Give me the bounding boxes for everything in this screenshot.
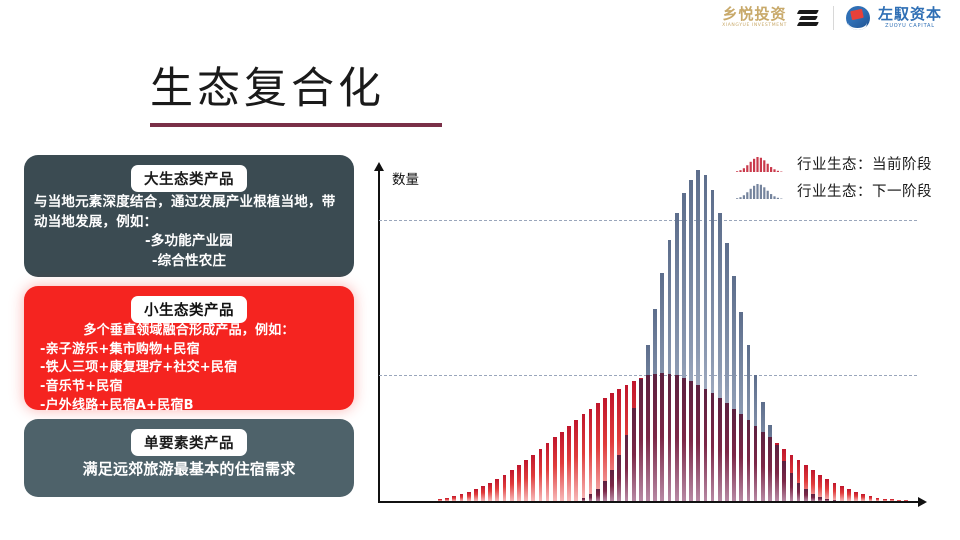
- logo-bar: 乡悦投资 XIANGYUE INVESTMENT 左馭资本 ZUOYU CAPI…: [722, 6, 942, 30]
- chart-bar-overlap: [718, 398, 722, 501]
- logo-divider: [833, 6, 834, 30]
- chart-bar-overlap: [682, 378, 686, 501]
- chart-bar-overlap: [818, 497, 822, 501]
- chart-bar-current-stage: [495, 479, 499, 502]
- logo-zuoyu-cn: 左馭资本: [878, 7, 942, 22]
- legend-item-0[interactable]: 行业生态：当前阶段: [735, 150, 932, 177]
- chart-bar-overlap: [747, 420, 751, 501]
- chart-bar-current-stage: [546, 443, 550, 501]
- card-small-ecology-item-1: -铁人三项+康复理疗+社交+民宿: [34, 359, 344, 378]
- chart-bar-current-stage: [445, 498, 449, 501]
- chart-bar-overlap: [589, 494, 593, 501]
- chart-bar-overlap: [825, 499, 829, 501]
- logo-zuoyu-en: ZUOYU CAPITAL: [885, 24, 935, 29]
- card-small-ecology-item-0: -亲子游乐+集市购物+民宿: [34, 341, 344, 360]
- chart-bar-current-stage: [488, 483, 492, 501]
- chart-bar-overlap: [797, 483, 801, 501]
- chart-bar-overlap: [582, 498, 586, 501]
- card-small-ecology-chip: 小生态类产品: [131, 296, 247, 323]
- chart-bar-current-stage: [833, 483, 837, 501]
- logo-zuoyu: 左馭资本 ZUOYU CAPITAL: [878, 7, 942, 29]
- chart-bar-current-stage: [876, 498, 880, 501]
- chart-bar-current-stage: [553, 437, 557, 501]
- chart-bar-overlap: [660, 373, 664, 501]
- chart-bar-overlap: [696, 385, 700, 501]
- legend-item-label: 行业生态：当前阶段: [797, 153, 932, 174]
- chart-bar-overlap: [711, 393, 715, 501]
- chart-bar-current-stage: [452, 496, 456, 501]
- card-single-element-product: 单要素类产品 满足远郊旅游最基本的住宿需求: [24, 419, 354, 497]
- chart-legend: 行业生态：当前阶段行业生态：下一阶段: [735, 150, 932, 204]
- chart-bar-overlap: [617, 455, 621, 501]
- chart-bar-overlap: [761, 432, 765, 502]
- card-single-element-chip: 单要素类产品: [131, 429, 247, 456]
- chart-bar-current-stage: [589, 409, 593, 501]
- card-big-ecology-product: 大生态类产品 与当地元素深度结合，通过发展产业根植当地，带动当地发展，例如： -…: [24, 155, 354, 277]
- chart-bar-overlap: [833, 500, 837, 501]
- chart-bar-current-stage: [524, 460, 528, 501]
- chart-bar-overlap: [782, 461, 786, 501]
- legend-item-label: 行业生态：下一阶段: [797, 180, 932, 201]
- card-small-ecology-product: 小生态类产品 多个垂直领域融合形成产品，例如： -亲子游乐+集市购物+民宿 -铁…: [24, 286, 354, 410]
- chart-bar-current-stage: [467, 492, 471, 501]
- chart-bar-overlap: [668, 374, 672, 501]
- chart-bar-current-stage: [847, 489, 851, 501]
- logo-xiangyue: 乡悦投资 XIANGYUE INVESTMENT: [722, 7, 787, 29]
- chart-bar-current-stage: [582, 414, 586, 501]
- chart-bar-current-stage: [539, 449, 543, 501]
- slide-root: 乡悦投资 XIANGYUE INVESTMENT 左馭资本 ZUOYU CAPI…: [0, 0, 960, 540]
- chart-bar-overlap: [632, 408, 636, 501]
- chart-bar-current-stage: [531, 455, 535, 501]
- card-small-ecology-item-3: -户外线路+民宿A+民宿B: [34, 397, 344, 416]
- chart-bar-overlap: [704, 389, 708, 501]
- card-big-ecology-item-0: -多功能产业园: [34, 232, 344, 252]
- chart-bar-overlap: [811, 494, 815, 501]
- chart-bar-overlap: [653, 374, 657, 501]
- chart-bar-overlap: [790, 473, 794, 501]
- chart-bar-current-stage: [854, 492, 858, 501]
- chart-bar-current-stage: [861, 494, 865, 501]
- legend-item-1[interactable]: 行业生态：下一阶段: [735, 177, 932, 204]
- chart-bar-current-stage: [869, 496, 873, 501]
- chart-bar-current-stage: [574, 420, 578, 501]
- bell-curve-red-icon: [735, 155, 783, 173]
- distribution-chart: 数量: [370, 150, 940, 515]
- logo-xiangyue-cn: 乡悦投资: [723, 7, 787, 22]
- chart-bar-overlap: [646, 375, 650, 501]
- card-small-ecology-item-2: -音乐节+民宿: [34, 378, 344, 397]
- chart-bar-overlap: [596, 489, 600, 501]
- card-big-ecology-chip: 大生态类产品: [131, 165, 247, 192]
- chart-bar-current-stage: [510, 470, 514, 501]
- chart-bar-overlap: [603, 481, 607, 501]
- chart-bar-current-stage: [897, 500, 901, 501]
- card-small-ecology-paragraph: 多个垂直领域融合形成产品，例如：: [34, 322, 344, 341]
- chart-bar-overlap: [610, 470, 614, 501]
- zuoyu-circle-icon: [846, 6, 870, 30]
- chart-gridline-1: [379, 220, 917, 221]
- chart-bar-overlap: [804, 489, 808, 501]
- bell-curve-blue-icon: [735, 182, 783, 200]
- chart-bar-current-stage: [904, 500, 908, 501]
- logo-xiangyue-en: XIANGYUE INVESTMENT: [722, 24, 787, 29]
- chart-bar-overlap: [675, 375, 679, 501]
- chart-bar-overlap: [625, 435, 629, 501]
- chart-bar-current-stage: [503, 475, 507, 501]
- card-big-ecology-paragraph: 与当地元素深度结合，通过发展产业根植当地，带动当地发展，例如：: [34, 193, 344, 232]
- chart-bar-overlap: [639, 379, 643, 501]
- chart-bar-current-stage: [883, 499, 887, 501]
- chart-bar-overlap: [768, 437, 772, 501]
- chart-bar-overlap: [725, 403, 729, 501]
- chart-bar-current-stage: [567, 426, 571, 501]
- chart-bar-overlap: [754, 426, 758, 501]
- chart-x-axis: [378, 501, 918, 503]
- title-underline: [150, 123, 442, 127]
- product-card-list: 大生态类产品 与当地元素深度结合，通过发展产业根植当地，带动当地发展，例如： -…: [24, 155, 354, 506]
- chart-bar-current-stage: [438, 499, 442, 501]
- chart-bar-current-stage: [840, 486, 844, 501]
- card-big-ecology-item-1: -综合性农庄: [34, 252, 344, 272]
- chart-bar-overlap: [775, 445, 779, 501]
- chart-bar-overlap: [689, 381, 693, 501]
- chart-bar-current-stage: [596, 403, 600, 501]
- page-title: 生态复合化: [150, 54, 385, 116]
- chart-bar-current-stage: [517, 465, 521, 501]
- chart-bar-current-stage: [890, 499, 894, 501]
- chart-bar-current-stage: [560, 432, 564, 502]
- chart-bar-current-stage: [460, 494, 464, 501]
- chart-bar-overlap: [732, 409, 736, 501]
- chart-bar-current-stage: [825, 479, 829, 502]
- chart-bar-overlap: [739, 414, 743, 501]
- chart-bar-current-stage: [481, 486, 485, 501]
- three-bars-icon: [798, 10, 818, 26]
- chart-bar-current-stage: [474, 489, 478, 501]
- chart-plot-area: [379, 170, 917, 501]
